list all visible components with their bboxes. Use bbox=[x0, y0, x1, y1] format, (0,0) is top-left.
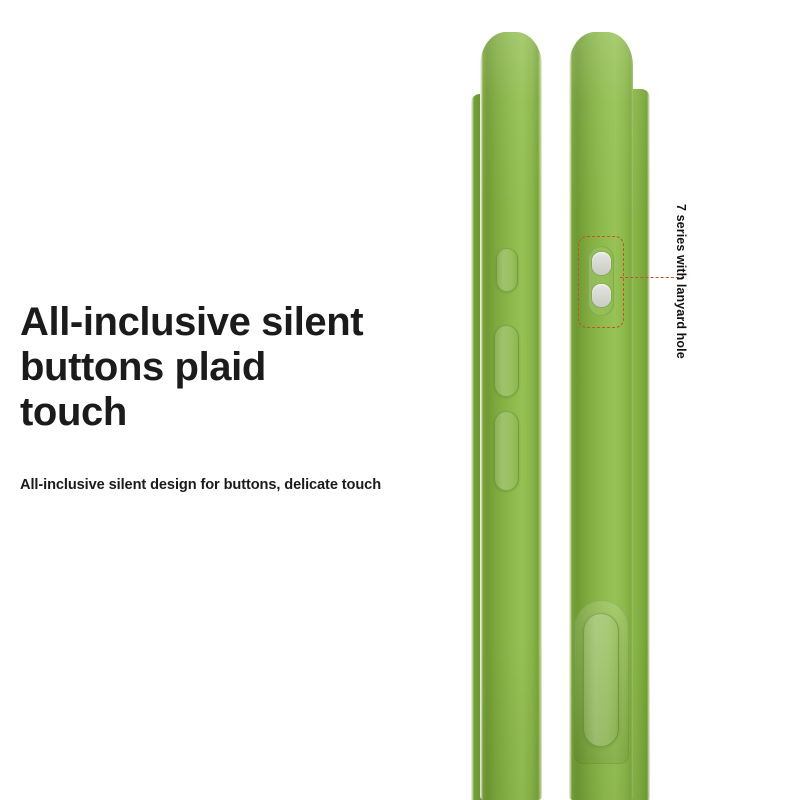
callout-label: 7 series with lanyard hole bbox=[674, 204, 688, 359]
product-marketing-image: All-inclusive silent buttons plaid touch… bbox=[0, 0, 800, 800]
page-title: All-inclusive silent buttons plaid touch bbox=[20, 300, 450, 434]
power-button bbox=[583, 613, 619, 747]
volume-up-button bbox=[494, 325, 519, 397]
volume-down-button bbox=[494, 411, 519, 491]
mute-switch-button bbox=[496, 248, 518, 292]
page-subtitle: All-inclusive silent design for buttons,… bbox=[20, 477, 460, 493]
callout-dashed-box bbox=[578, 236, 624, 328]
